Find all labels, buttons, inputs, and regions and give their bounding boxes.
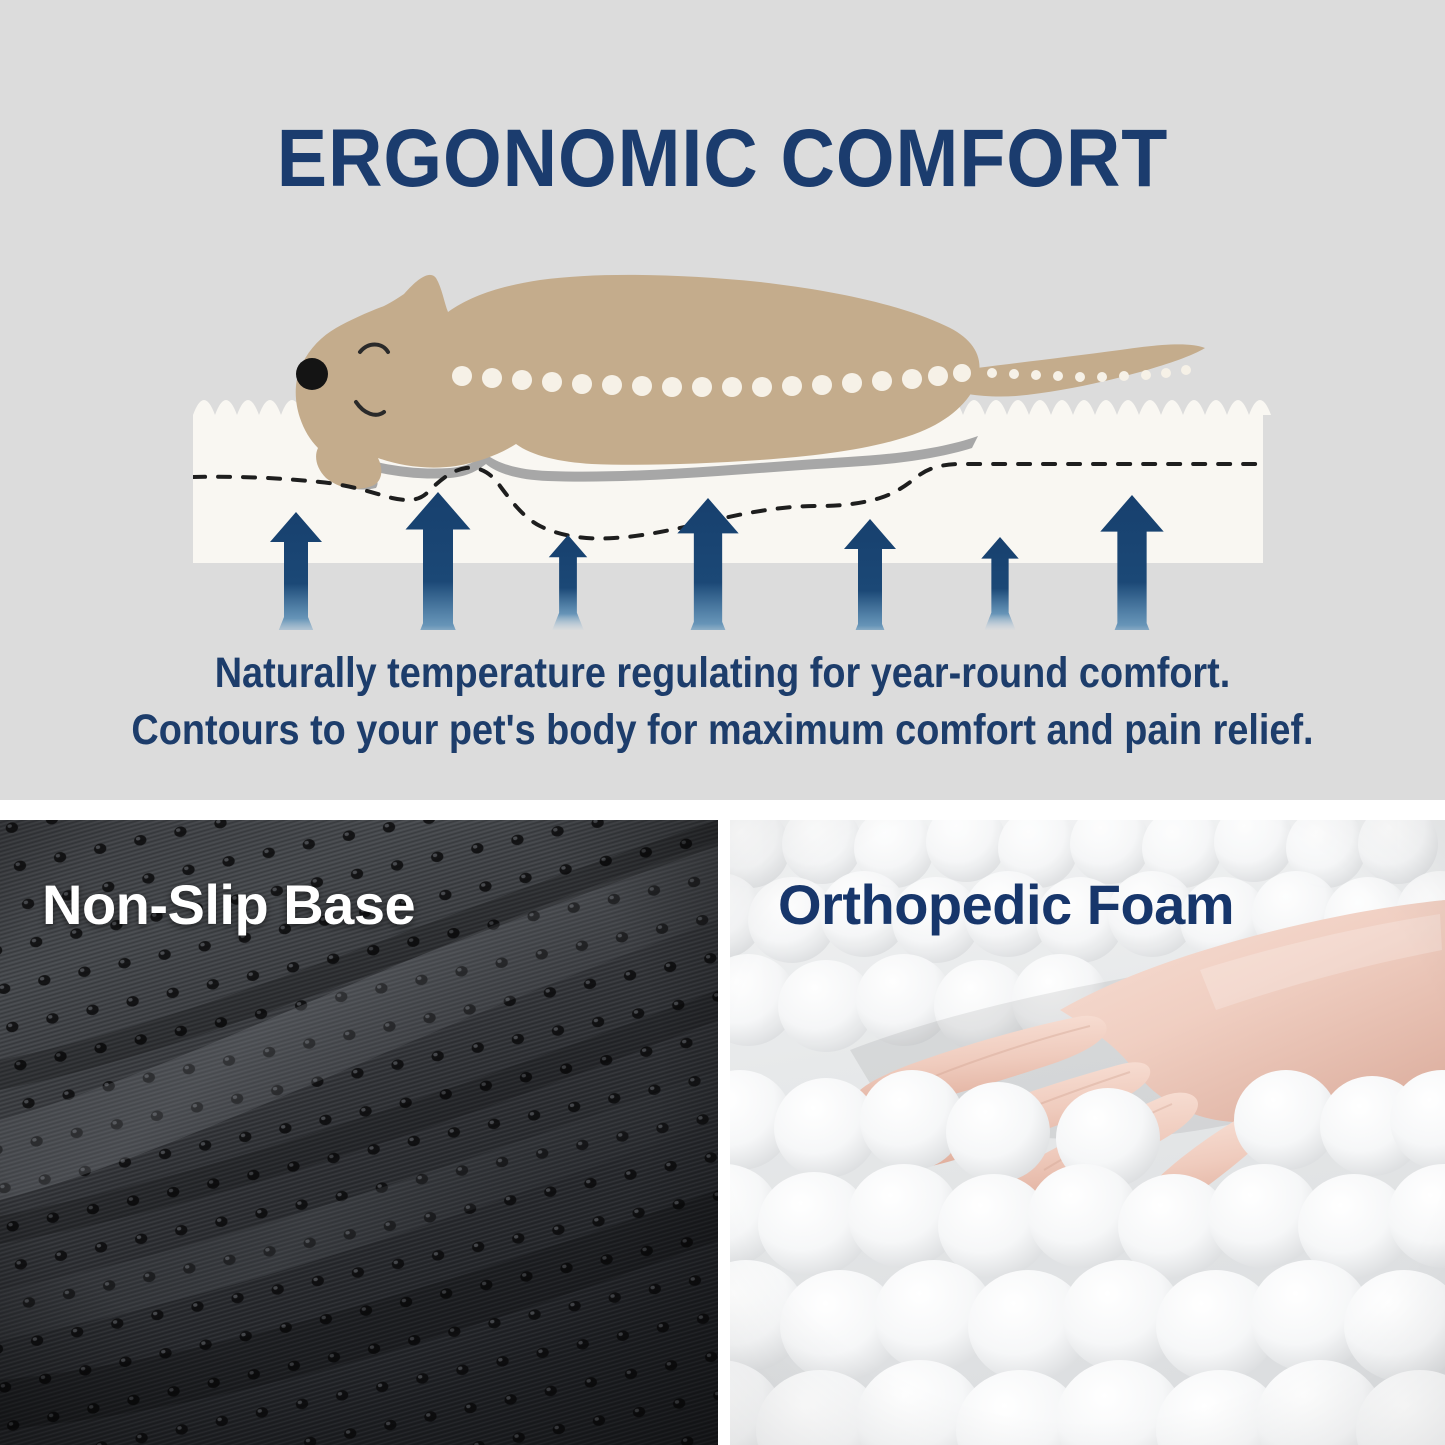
dog-on-foam-illustration xyxy=(0,230,1445,630)
feature-panel-orthopedic-foam: Orthopedic Foam xyxy=(730,820,1445,1445)
illustration-svg xyxy=(0,230,1445,630)
subcopy-block: Naturally temperature regulating for yea… xyxy=(0,645,1445,759)
subcopy-line-1: Naturally temperature regulating for yea… xyxy=(87,645,1359,702)
page-title: ERGONOMIC COMFORT xyxy=(58,112,1387,206)
panel-label-non-slip-base: Non-Slip Base xyxy=(42,872,415,937)
ergonomic-comfort-panel: ERGONOMIC COMFORT xyxy=(0,0,1445,800)
feature-panel-non-slip-base: Non-Slip Base xyxy=(0,820,718,1445)
dog-nose-icon xyxy=(296,358,328,390)
infographic-page: ERGONOMIC COMFORT xyxy=(0,0,1445,1445)
panel-label-orthopedic-foam: Orthopedic Foam xyxy=(778,872,1234,937)
subcopy-line-2: Contours to your pet's body for maximum … xyxy=(87,702,1359,759)
